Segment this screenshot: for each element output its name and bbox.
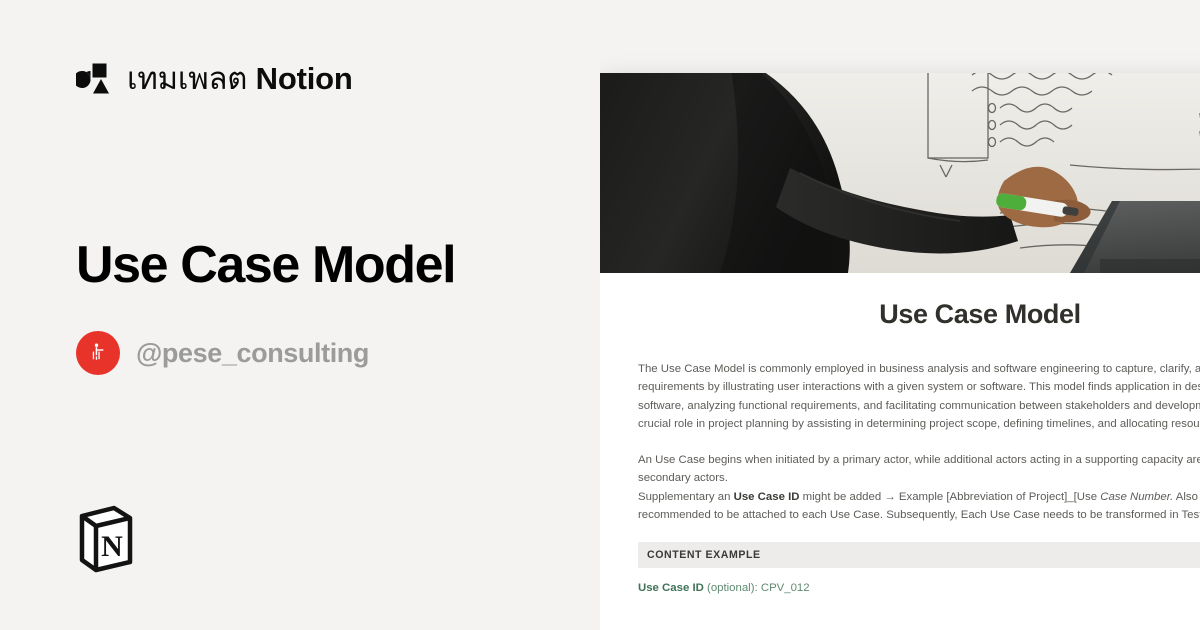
svg-text:N: N xyxy=(101,530,123,563)
notion-cube-icon: N xyxy=(78,502,134,574)
avatar xyxy=(76,331,120,375)
content-example-key: Use Case ID xyxy=(638,582,704,594)
brand-prefix: เทมเพลต xyxy=(127,61,247,96)
page-title: Use Case Model xyxy=(76,236,455,294)
document-title: Use Case Model xyxy=(638,299,1200,330)
content-example-line: Use Case ID (optional): CPV_012 xyxy=(638,579,1200,597)
document-preview-card[interactable]: Video Modul (on xyxy=(600,73,1200,630)
shapes-logo-icon xyxy=(76,60,113,97)
brand-name: Notion xyxy=(256,61,353,96)
author-handle: @pese_consulting xyxy=(136,338,369,369)
document-body: Use Case Model The Use Case Model is com… xyxy=(600,273,1200,597)
content-example-value: (optional): CPV_012 xyxy=(704,582,810,594)
person-drawing-icon xyxy=(85,340,111,366)
document-paragraph-1: The Use Case Model is commonly employed … xyxy=(638,360,1200,434)
left-panel: เทมเพลต Notion Use Case Model @pese_cons… xyxy=(0,0,600,630)
right-panel: Video Modul (on xyxy=(600,0,1200,630)
document-paragraph-2: An Use Case begins when initiated by a p… xyxy=(638,451,1200,525)
brand-label: เทมเพลต Notion xyxy=(127,63,353,94)
share-preview-card: เทมเพลต Notion Use Case Model @pese_cons… xyxy=(0,0,1200,630)
brand-row: เทมเพลต Notion xyxy=(76,60,353,97)
author-row: @pese_consulting xyxy=(76,331,369,375)
content-example-heading: CONTENT EXAMPLE xyxy=(638,542,1200,568)
cover-photo: Video Modul (on xyxy=(600,73,1200,273)
